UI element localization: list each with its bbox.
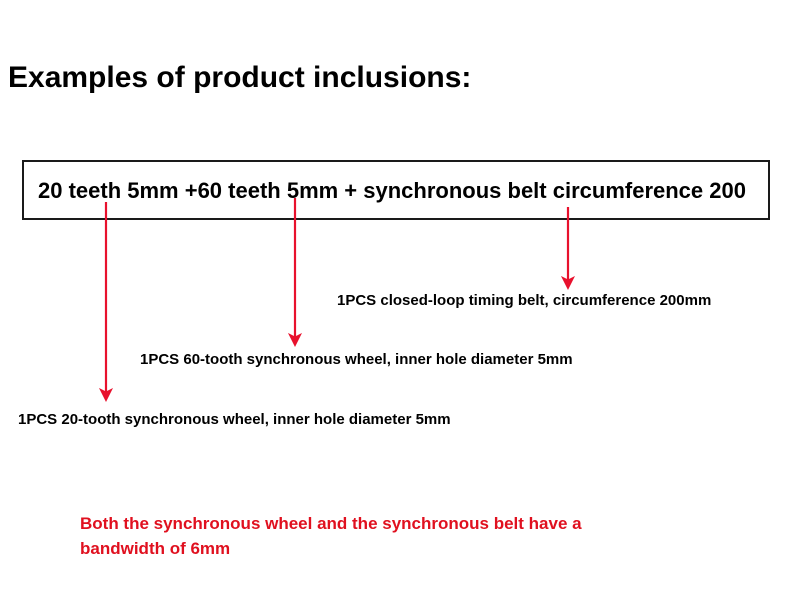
footnote-bandwidth: Both the synchronous wheel and the synch… [80, 511, 600, 561]
slide-canvas: Examples of product inclusions: 20 teeth… [0, 0, 800, 600]
callout-label-wheel-60: 1PCS 60-tooth synchronous wheel, inner h… [140, 350, 573, 370]
callout-label-wheel-20: 1PCS 20-tooth synchronous wheel, inner h… [18, 410, 451, 430]
summary-box: 20 teeth 5mm +60 teeth 5mm + synchronous… [22, 160, 770, 220]
callout-label-belt: 1PCS closed-loop timing belt, circumfere… [337, 291, 711, 311]
summary-box-text: 20 teeth 5mm +60 teeth 5mm + synchronous… [38, 178, 746, 204]
page-title: Examples of product inclusions: [8, 60, 471, 96]
